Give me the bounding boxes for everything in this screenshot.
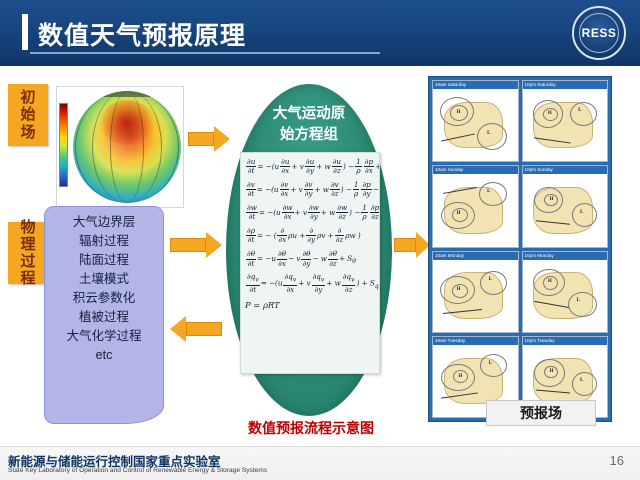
equation-u-momentum: ∂u∂t= −(u∂u∂x+ v∂u∂y+ w∂u∂z) −1ρ∂p∂x+ fv [245, 158, 375, 176]
tag-physical-line-3: 过 [20, 253, 35, 270]
initial-field-globe [56, 86, 184, 208]
equation-state: P = ρRT [245, 301, 375, 311]
map-letter: H [548, 111, 552, 116]
map-letter: H [457, 211, 461, 216]
map-letter: L [580, 378, 583, 383]
lab-logo-text: RESS [582, 26, 617, 41]
forecast-field-label: 预报场 [486, 400, 596, 426]
map-letter: L [489, 277, 492, 282]
map-letter: L [577, 298, 580, 303]
map-cell: 10am Saturday H L [432, 80, 519, 162]
map-cell: 10pm Saturday H L [522, 80, 609, 162]
footer-lab-name-en: State Key Laboratory of Operation and Co… [8, 467, 267, 474]
header-accent-bar [22, 14, 28, 50]
tag-initial-field: 初 始 场 [8, 84, 48, 146]
map-letter: H [550, 197, 554, 202]
tag-physical-process: 物 理 过 程 [8, 222, 48, 284]
equation-continuity: ∂ρ∂t= − (∂∂xρu +∂∂yρv +∂∂zρw ) [245, 227, 375, 245]
slide-footer: 新能源与储能运行控制国家重点实验室 State Key Laboratory o… [0, 446, 640, 480]
map-title: 10pm Sunday [523, 166, 608, 174]
globe-sphere [73, 91, 181, 203]
lab-logo-inner: RESS [579, 13, 619, 53]
tag-initial-line-3: 场 [20, 124, 35, 141]
equations-title-line-2: 始方程组 [236, 125, 382, 146]
equation-v-momentum: ∂v∂t= −(u∂v∂x+ v∂v∂y+ w∂v∂z) −1ρ∂p∂y− fu [245, 181, 375, 199]
list-item: 积云参数化 [49, 289, 159, 308]
map-title: 10am Monday [433, 252, 518, 260]
equations-title: 大气运动原 始方程组 [236, 104, 382, 146]
tag-physical-line-1: 物 [20, 219, 35, 236]
globe-colorbar [59, 103, 68, 187]
map-title: 10pm Saturday [523, 81, 608, 89]
equation-w-momentum: ∂w∂t= −(u∂w∂x+ v∂w∂y+ w∂w∂z) −1ρ∂p∂z− g [245, 204, 375, 222]
slide-header: 数值天气预报原理 RESS [0, 0, 640, 66]
map-title: 10am Tuesday [433, 337, 518, 345]
map-letter: H [550, 369, 554, 374]
equations-card: ∂u∂t= −(u∂u∂x+ v∂u∂y+ w∂u∂z) −1ρ∂p∂x+ fv… [240, 152, 380, 374]
list-item: 辐射过程 [49, 232, 159, 251]
map-letter: H [458, 374, 462, 379]
map-letter: L [487, 131, 490, 136]
tag-initial-line-1: 初 [20, 89, 35, 106]
equation-moisture: ∂qv∂t= −(u∂qv∂x+ v∂qv∂y+ w∂qv∂z) + Sqv [245, 273, 375, 294]
map-title: 10am Saturday [433, 81, 518, 89]
map-letter: L [489, 361, 492, 366]
list-item: 陆面过程 [49, 251, 159, 270]
diagram-caption: 数值预报流程示意图 [228, 418, 394, 438]
physical-process-box: 大气边界层 辐射过程 陆面过程 土壤模式 积云参数化 植被过程 大气化学过程 e… [44, 206, 164, 424]
tag-initial-line-2: 始 [20, 106, 35, 123]
list-item: 植被过程 [49, 308, 159, 327]
map-cell: 10am Sunday H L [432, 165, 519, 247]
map-title: 10pm Monday [523, 252, 608, 260]
list-item: 大气化学过程 [49, 327, 159, 346]
map-cell: 10am Monday H L [432, 251, 519, 333]
map-letter: L [578, 108, 581, 113]
map-cell: 10pm Sunday H L [522, 165, 609, 247]
map-letter: H [457, 287, 461, 292]
page-number: 16 [610, 453, 624, 468]
equations-title-line-1: 大气运动原 [236, 104, 382, 125]
map-letter: H [457, 110, 461, 115]
list-item: etc [49, 346, 159, 365]
forecast-map-grid: 10am Saturday H L 10pm Saturday H L 10am… [428, 76, 612, 422]
map-title: 10am Sunday [433, 166, 518, 174]
list-item: 土壤模式 [49, 270, 159, 289]
lab-logo: RESS [572, 6, 626, 60]
page-title: 数值天气预报原理 [38, 16, 246, 52]
map-letter: H [548, 279, 552, 284]
physical-process-list: 大气边界层 辐射过程 陆面过程 土壤模式 积云参数化 植被过程 大气化学过程 e… [49, 213, 159, 365]
map-title: 10pm Tuesday [523, 337, 608, 345]
tag-physical-line-2: 理 [20, 236, 35, 253]
map-letter: L [580, 210, 583, 215]
tag-physical-line-4: 程 [20, 270, 35, 287]
map-cell: 10pm Monday H L [522, 251, 609, 333]
header-underline [30, 52, 380, 54]
map-letter: L [487, 189, 490, 194]
list-item: 大气边界层 [49, 213, 159, 232]
equation-thermodynamic: ∂θ∂t= −u∂θ∂x− v∂θ∂y− w∂θ∂z+ Sθ [245, 250, 375, 268]
